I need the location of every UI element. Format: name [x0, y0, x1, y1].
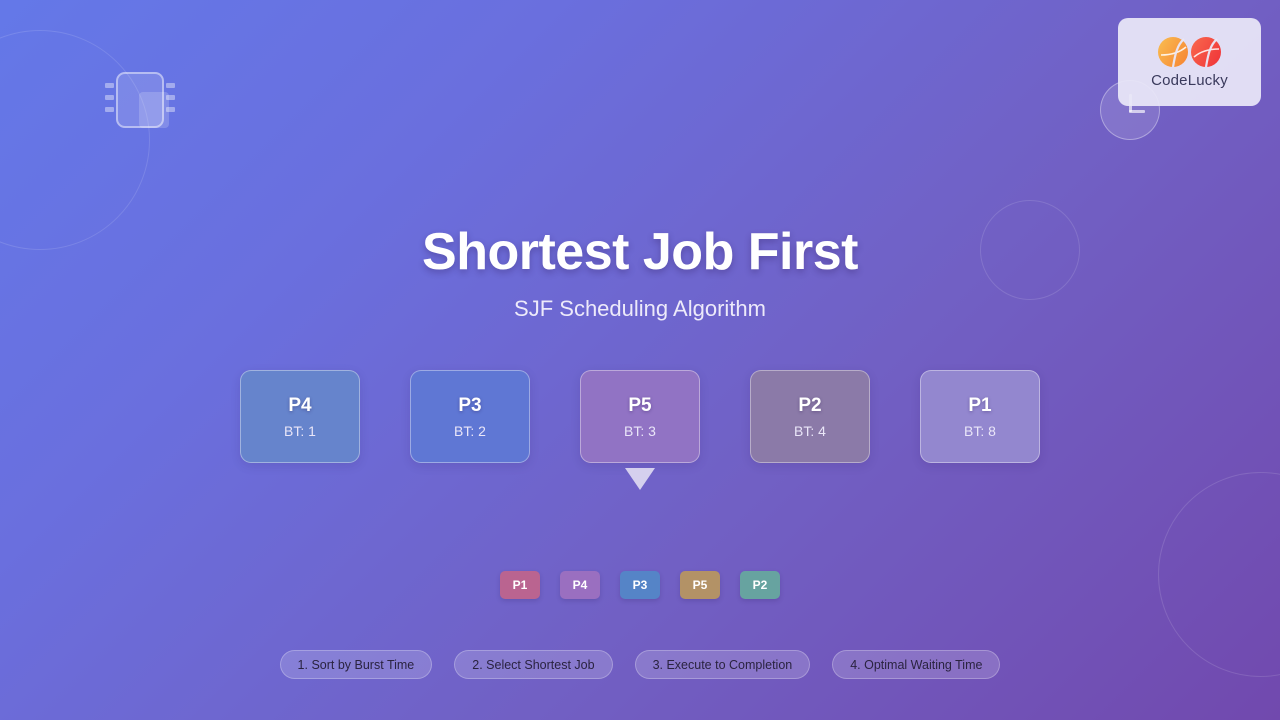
process-card[interactable]: P1BT: 8 — [920, 370, 1040, 463]
execution-order-row: P1P4P3P5P2 — [0, 571, 1280, 599]
down-arrow-icon — [625, 468, 655, 490]
process-card[interactable]: P5BT: 3 — [580, 370, 700, 463]
process-card-burst-time: BT: 8 — [964, 423, 996, 439]
process-card-burst-time: BT: 2 — [454, 423, 486, 439]
page-subtitle: SJF Scheduling Algorithm — [0, 296, 1280, 322]
process-card[interactable]: P4BT: 1 — [240, 370, 360, 463]
process-card-name: P2 — [798, 395, 821, 417]
process-card-burst-time: BT: 1 — [284, 423, 316, 439]
step-pill[interactable]: 1. Sort by Burst Time — [280, 650, 433, 679]
process-card-row: P4BT: 1P3BT: 2P5BT: 3P2BT: 4P1BT: 8 — [0, 370, 1280, 463]
process-card-burst-time: BT: 3 — [624, 423, 656, 439]
process-card[interactable]: P3BT: 2 — [410, 370, 530, 463]
step-pill[interactable]: 2. Select Shortest Job — [454, 650, 612, 679]
step-pill[interactable]: 4. Optimal Waiting Time — [832, 650, 1000, 679]
execution-order-chip[interactable]: P1 — [500, 571, 540, 599]
execution-order-chip[interactable]: P2 — [740, 571, 780, 599]
process-card-burst-time: BT: 4 — [794, 423, 826, 439]
hero-section: Shortest Job First SJF Scheduling Algori… — [0, 0, 1280, 322]
process-card-name: P3 — [458, 395, 481, 417]
page-title: Shortest Job First — [0, 222, 1280, 282]
steps-row: 1. Sort by Burst Time2. Select Shortest … — [0, 650, 1280, 679]
execution-order-chip[interactable]: P5 — [680, 571, 720, 599]
process-card-name: P4 — [288, 395, 311, 417]
process-card-name: P5 — [628, 395, 651, 417]
execution-order-chip[interactable]: P3 — [620, 571, 660, 599]
process-card-name: P1 — [968, 395, 991, 417]
execution-order-chip[interactable]: P4 — [560, 571, 600, 599]
process-card[interactable]: P2BT: 4 — [750, 370, 870, 463]
step-pill[interactable]: 3. Execute to Completion — [635, 650, 811, 679]
